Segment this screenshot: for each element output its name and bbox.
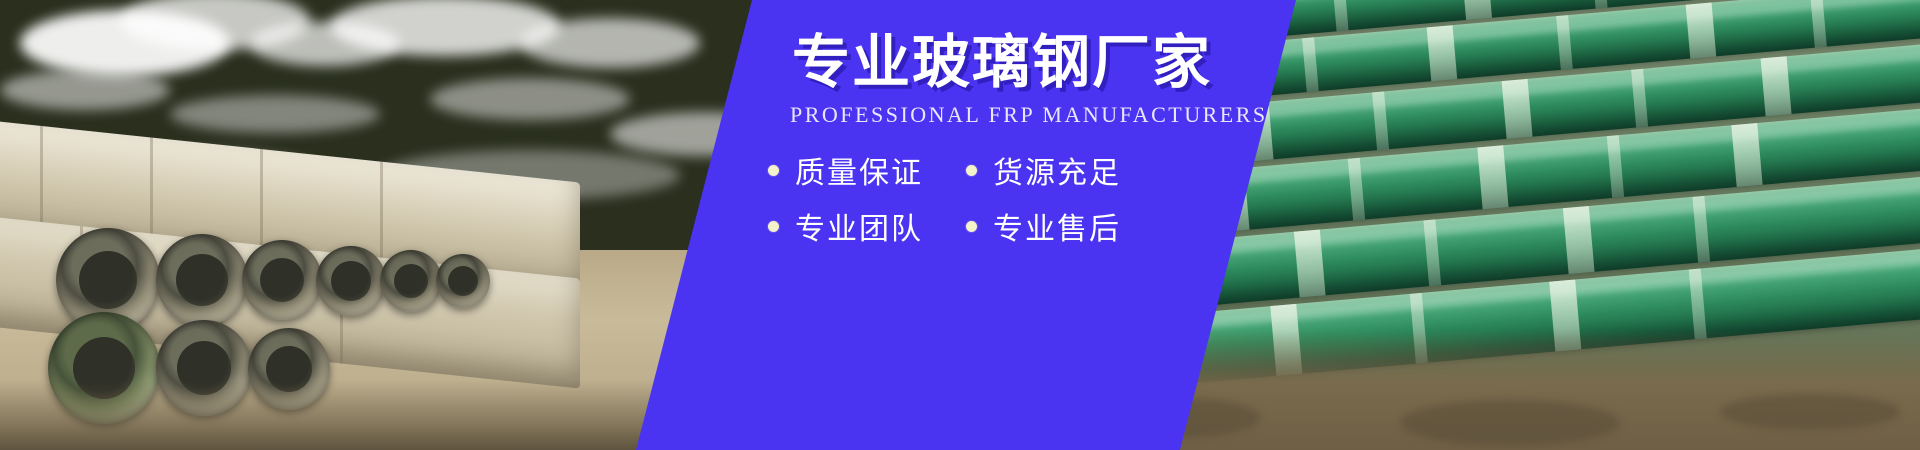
feature-label: 专业售后 bbox=[993, 204, 1121, 248]
headline: 专业玻璃钢厂家 bbox=[792, 34, 1212, 92]
bullet-dot-icon bbox=[768, 221, 779, 232]
feature-item-quality: 质量保证 bbox=[768, 148, 966, 192]
feature-label: 质量保证 bbox=[795, 148, 923, 192]
promo-banner: 专业玻璃钢厂家 PROFESSIONAL FRP MANUFACTURERS 质… bbox=[0, 0, 1920, 450]
feature-label: 专业团队 bbox=[795, 204, 923, 248]
feature-item-aftersales: 专业售后 bbox=[966, 204, 1176, 248]
bullet-dot-icon bbox=[768, 165, 779, 176]
bullet-dot-icon bbox=[966, 221, 977, 232]
gray-pipe-stack bbox=[0, 150, 580, 380]
feature-label: 货源充足 bbox=[993, 148, 1121, 192]
bullet-dot-icon bbox=[966, 165, 977, 176]
feature-list: 质量保证 货源充足 专业团队 专业售后 bbox=[768, 142, 1268, 254]
feature-item-supply: 货源充足 bbox=[966, 148, 1176, 192]
subheadline: PROFESSIONAL FRP MANUFACTURERS bbox=[790, 102, 1268, 128]
banner-content: 专业玻璃钢厂家 PROFESSIONAL FRP MANUFACTURERS 质… bbox=[756, 18, 1276, 438]
feature-item-team: 专业团队 bbox=[768, 204, 966, 248]
